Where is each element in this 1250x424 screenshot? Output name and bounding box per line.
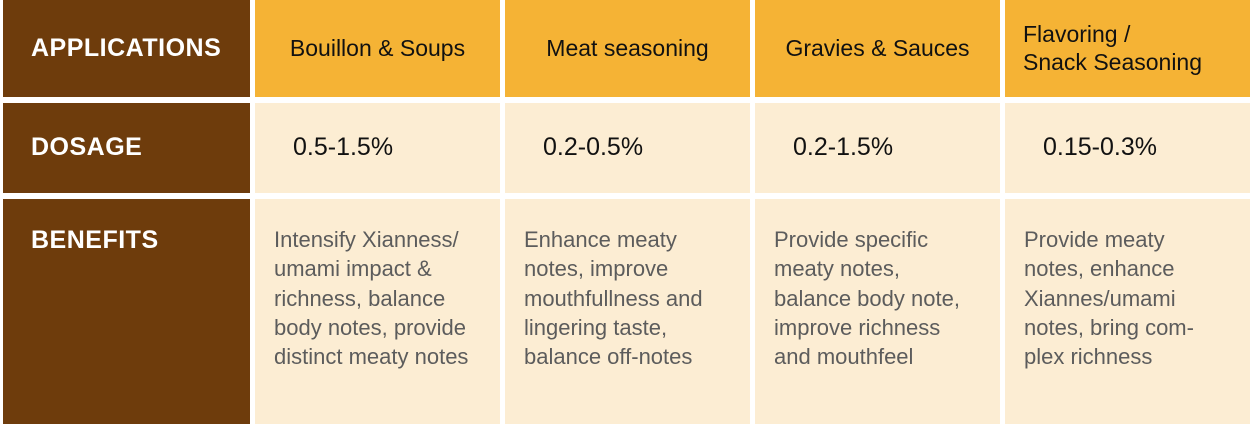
benefits-cell-gravies-sauces: Provide specific meaty notes, balance bo… — [755, 199, 1000, 424]
benefits-cell-bouillon-soups: Intensify Xianness/ umami impact & richn… — [255, 199, 500, 424]
row-label-benefits-text: BENEFITS — [31, 227, 159, 255]
benefits-cell-flavoring-snack-seasoning: Provide meaty notes, enhance Xiannes/uma… — [1005, 199, 1250, 424]
row-label-applications-text: APPLICATIONS — [31, 35, 221, 63]
column-header-meat-seasoning: Meat seasoning — [505, 0, 750, 97]
row-label-benefits: BENEFITS — [3, 199, 250, 424]
column-header-meat-seasoning-text: Meat seasoning — [546, 35, 708, 62]
benefits-text-bouillon-soups: Intensify Xianness/ umami impact & richn… — [274, 227, 468, 369]
benefits-text-gravies-sauces: Provide specific meaty notes, balance bo… — [774, 227, 960, 369]
dosage-cell-flavoring-snack-seasoning: 0.15-0.3% — [1005, 103, 1250, 193]
dosage-value-bouillon-soups: 0.5-1.5% — [293, 134, 393, 162]
column-header-gravies-sauces: Gravies & Sauces — [755, 0, 1000, 97]
applications-table-container: APPLICATIONS Bouillon & Soups Meat seaso… — [0, 0, 1250, 418]
dosage-cell-meat-seasoning: 0.2-0.5% — [505, 103, 750, 193]
benefits-cell-meat-seasoning: Enhance meaty notes, improve mouthfullne… — [505, 199, 750, 424]
dosage-cell-gravies-sauces: 0.2-1.5% — [755, 103, 1000, 193]
column-header-gravies-sauces-text: Gravies & Sauces — [785, 35, 969, 62]
dosage-value-gravies-sauces: 0.2-1.5% — [793, 134, 893, 162]
row-label-dosage: DOSAGE — [3, 103, 250, 193]
column-header-bouillon-soups-text: Bouillon & Soups — [290, 35, 465, 62]
applications-benefits-table: APPLICATIONS Bouillon & Soups Meat seaso… — [3, 0, 1245, 424]
benefits-text-meat-seasoning: Enhance meaty notes, improve mouthfullne… — [524, 227, 703, 369]
row-label-applications: APPLICATIONS — [3, 0, 250, 97]
column-header-bouillon-soups: Bouillon & Soups — [255, 0, 500, 97]
dosage-value-flavoring-snack-seasoning: 0.15-0.3% — [1043, 134, 1157, 162]
dosage-value-meat-seasoning: 0.2-0.5% — [543, 134, 643, 162]
dosage-cell-bouillon-soups: 0.5-1.5% — [255, 103, 500, 193]
column-header-flavoring-snack-seasoning-text: Flavoring / Snack Seasoning — [1023, 21, 1202, 75]
benefits-text-flavoring-snack-seasoning: Provide meaty notes, enhance Xiannes/uma… — [1024, 227, 1194, 369]
row-label-dosage-text: DOSAGE — [31, 134, 142, 162]
column-header-flavoring-snack-seasoning: Flavoring / Snack Seasoning — [1005, 0, 1250, 97]
